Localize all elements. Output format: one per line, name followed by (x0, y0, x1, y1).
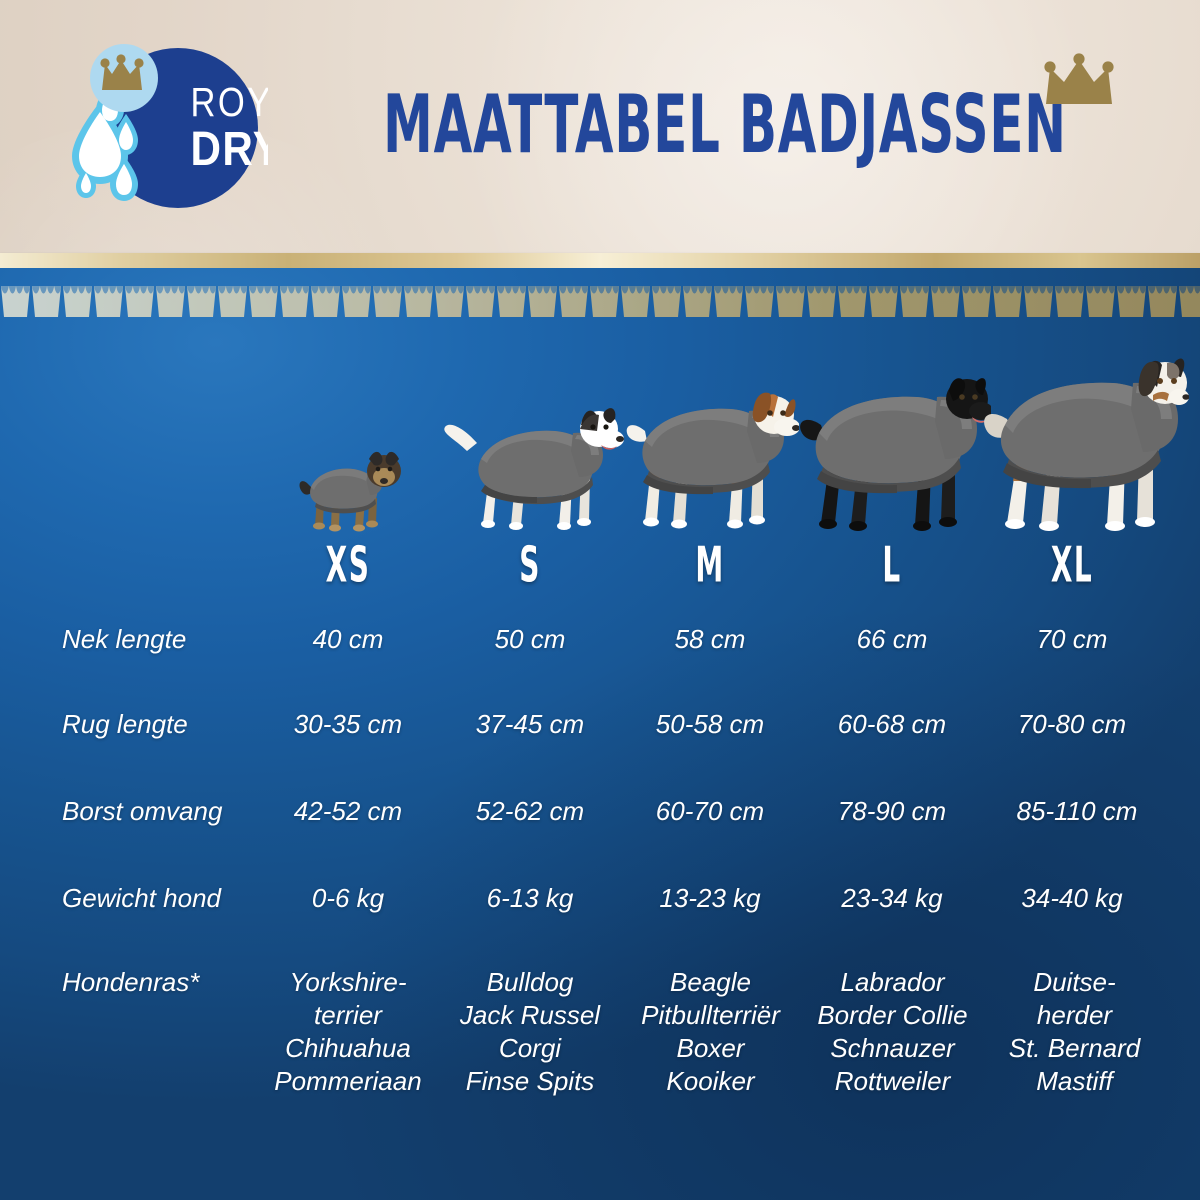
dog-image-l (796, 373, 992, 535)
cell-nek-lengte-xs: 40 cm (288, 623, 408, 656)
dog-image-s (440, 403, 626, 535)
cell-rug-lengte-m: 50-58 cm (640, 708, 780, 741)
cell-hondenras-xl: Duitse- herder St. Bernard Mastiff (992, 966, 1157, 1098)
size-label-s: S (486, 536, 575, 593)
cell-hondenras-xs: Yorkshire- terrier Chihuahua Pommeriaan (268, 966, 428, 1098)
crown-pattern-border (0, 268, 1200, 326)
cell-gewicht-hond-xs: 0-6 kg (288, 882, 408, 915)
size-chart-page: ROYAL DRY MAATTABEL BADJASSEN (0, 0, 1200, 1200)
size-label-l: L (848, 536, 937, 593)
row-label-borst-omvang: Borst omvang (62, 795, 312, 828)
cell-rug-lengte-xs: 30-35 cm (278, 708, 418, 741)
measurements-table: Nek lengte 40 cm 50 cm 58 cm 66 cm 70 cm… (0, 623, 1200, 1168)
cell-hondenras-s: Bulldog Jack Russel Corgi Finse Spits (450, 966, 610, 1098)
cell-borst-omvang-s: 52-62 cm (460, 795, 600, 828)
svg-text:ROYAL: ROYAL (190, 79, 268, 124)
svg-text:DRY: DRY (190, 121, 268, 175)
cell-rug-lengte-xl: 70-80 cm (1002, 708, 1142, 741)
cell-nek-lengte-s: 50 cm (470, 623, 590, 656)
cell-hondenras-l: Labrador Border Collie Schnauzer Rottwei… (810, 966, 975, 1098)
row-label-gewicht-hond: Gewicht hond (62, 882, 312, 915)
cell-borst-omvang-xs: 42-52 cm (278, 795, 418, 828)
page-title: MAATTABEL BADJASSEN (393, 68, 1057, 180)
dog-image-xl (980, 355, 1190, 535)
row-label-nek-lengte: Nek lengte (62, 623, 302, 656)
cell-borst-omvang-l: 78-90 cm (822, 795, 962, 828)
cell-rug-lengte-s: 37-45 cm (460, 708, 600, 741)
cell-nek-lengte-xl: 70 cm (1012, 623, 1132, 656)
crown-icon (1040, 52, 1118, 110)
cell-gewicht-hond-s: 6-13 kg (470, 882, 590, 915)
page-header: ROYAL DRY MAATTABEL BADJASSEN (0, 0, 1200, 253)
cell-nek-lengte-l: 66 cm (832, 623, 952, 656)
cell-rug-lengte-l: 60-68 cm (822, 708, 962, 741)
size-label-xl: XL (1028, 536, 1117, 593)
cell-gewicht-hond-m: 13-23 kg (645, 882, 775, 915)
dog-image-m (620, 385, 800, 535)
cell-borst-omvang-m: 60-70 cm (640, 795, 780, 828)
row-label-rug-lengte: Rug lengte (62, 708, 302, 741)
size-label-xs: XS (304, 536, 393, 593)
royal-dry-logo[interactable]: ROYAL DRY (58, 32, 268, 224)
size-label-m: M (666, 536, 755, 593)
cell-nek-lengte-m: 58 cm (650, 623, 770, 656)
dog-illustration-row (0, 320, 1200, 535)
cell-gewicht-hond-l: 23-34 kg (827, 882, 957, 915)
dog-image-xs (288, 443, 408, 535)
cell-borst-omvang-xl: 85-110 cm (1002, 795, 1152, 828)
cell-gewicht-hond-xl: 34-40 kg (1007, 882, 1137, 915)
cell-hondenras-m: Beagle Pitbullterriër Boxer Kooiker (628, 966, 793, 1098)
size-label-row: XS S M L XL (0, 540, 1200, 598)
chart-panel: XS S M L XL Nek lengte 40 cm 50 cm 58 cm… (0, 268, 1200, 1200)
gold-divider-band (0, 253, 1200, 268)
